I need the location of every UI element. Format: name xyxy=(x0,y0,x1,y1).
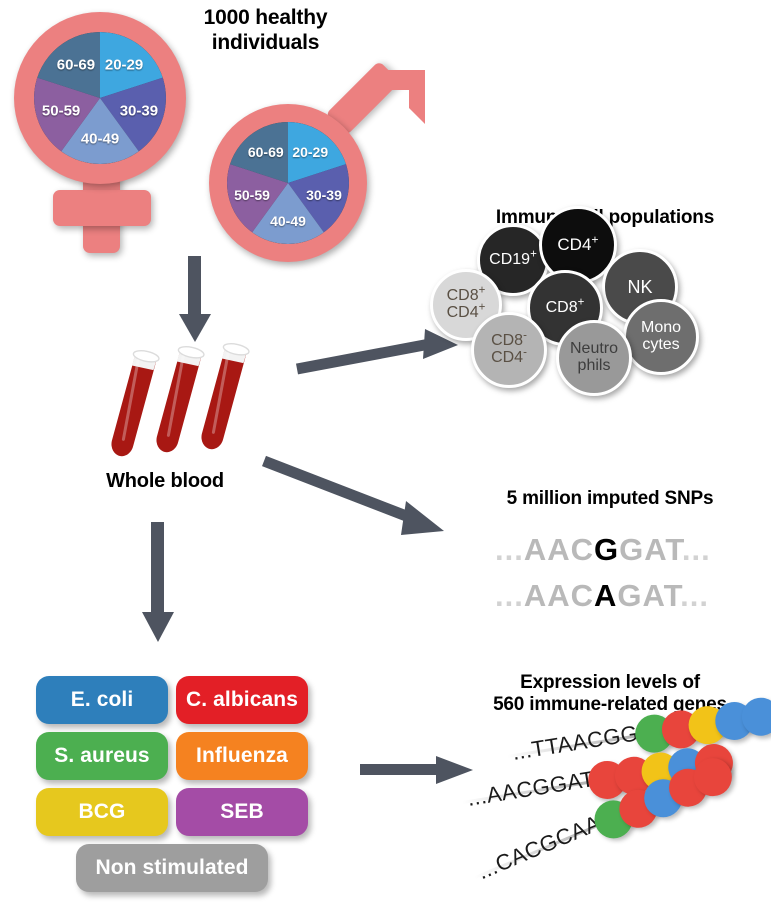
figure-canvas: 20-2930-3940-4950-5960-69 20-2930-3940-4… xyxy=(0,0,771,922)
dna-strand-sequence: ...AACGGAT xyxy=(465,766,596,812)
dna-strand-group: ...TTAACGG...AACGGAT...CACGCAA xyxy=(0,0,771,922)
dna-strand-sequence: ...TTAACGG xyxy=(510,720,640,766)
dna-strand-sequence: ...CACGCAA xyxy=(474,810,605,885)
